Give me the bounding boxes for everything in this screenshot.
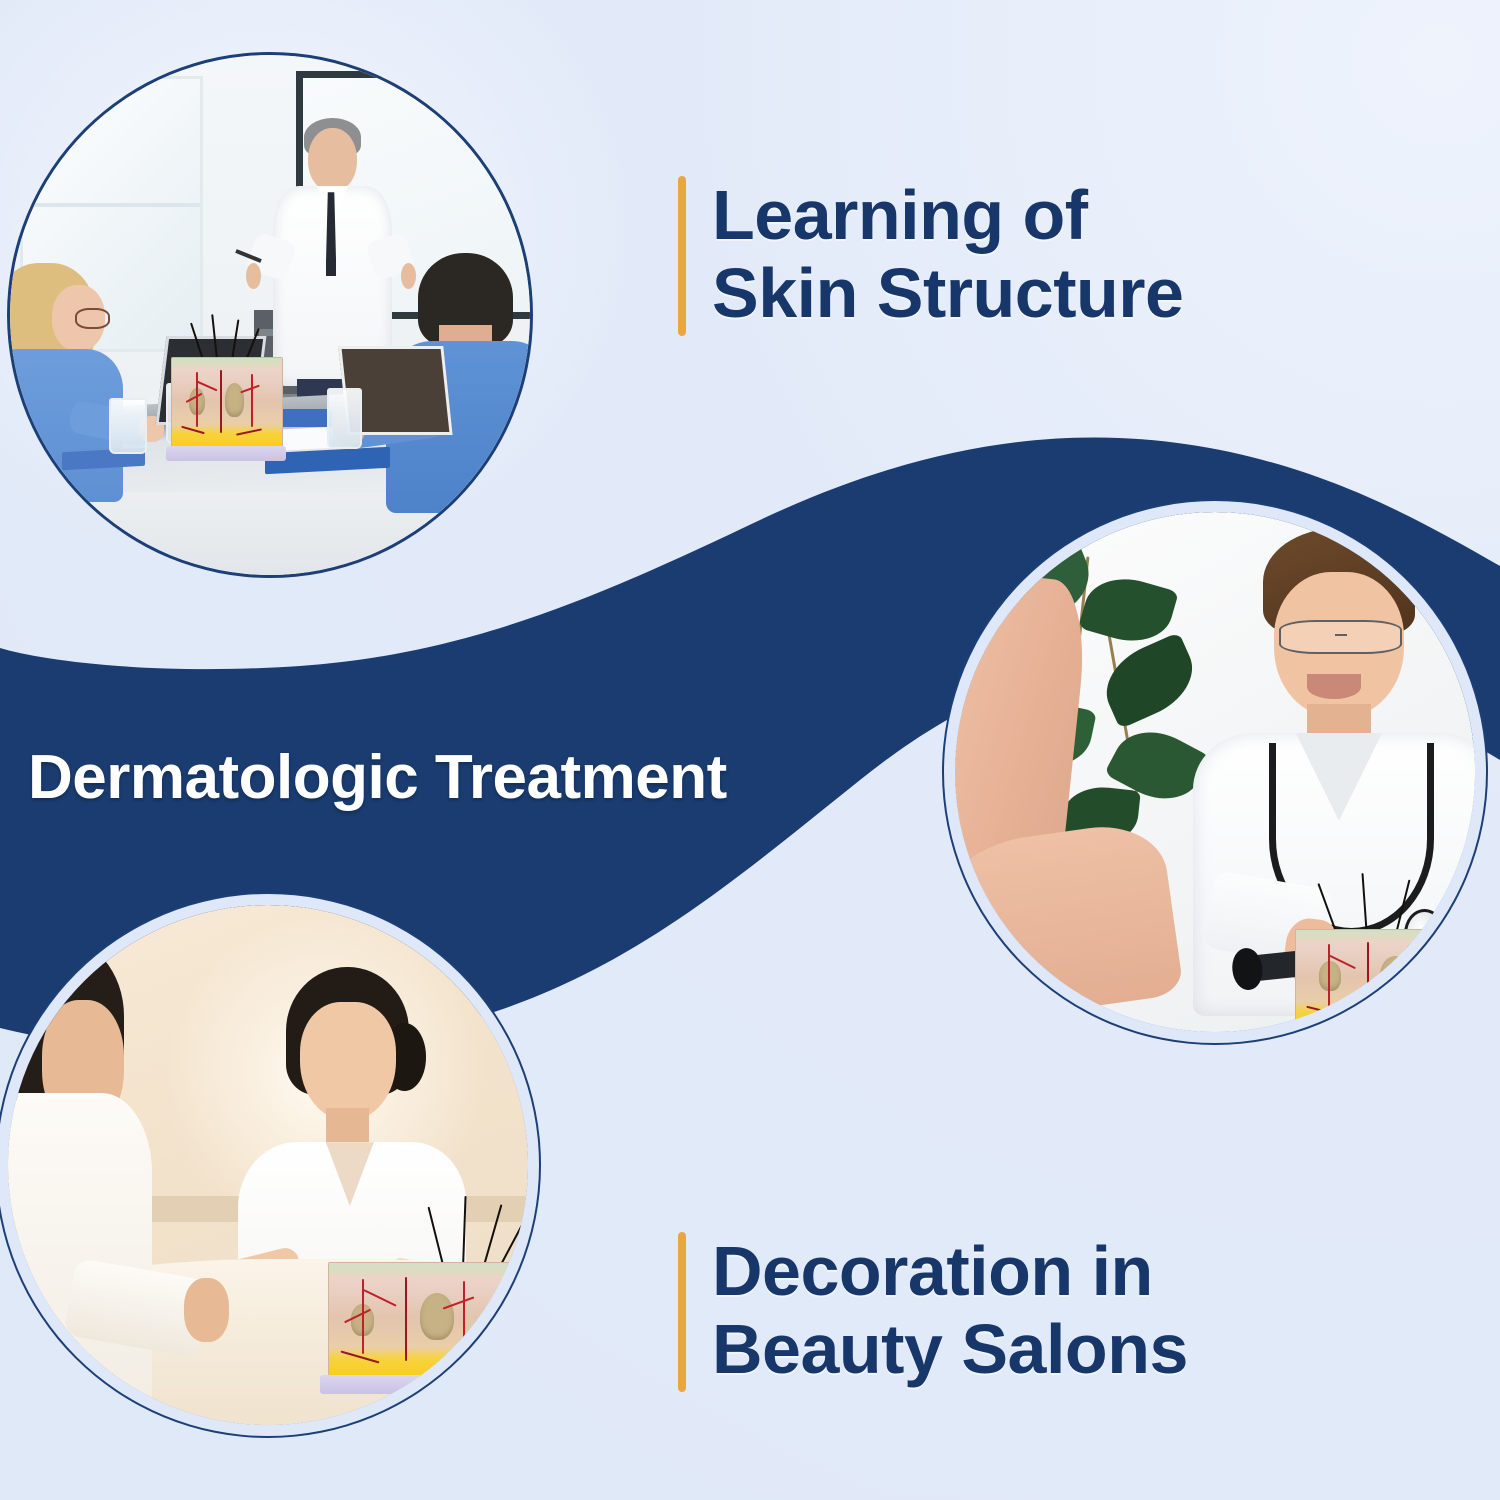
beauty-salon-photo bbox=[8, 905, 528, 1425]
infographic-canvas: Dermatologic Treatment bbox=[0, 0, 1500, 1500]
feature-heading-learning: Learning of Skin Structure bbox=[678, 176, 1183, 336]
skin-anatomy-model bbox=[320, 1248, 518, 1394]
patient-forearm bbox=[955, 819, 1185, 1027]
dermatologist-photo bbox=[955, 512, 1475, 1032]
feature-heading-decoration: Decoration in Beauty Salons bbox=[678, 1232, 1188, 1392]
feature-heading-decoration-text: Decoration in Beauty Salons bbox=[712, 1232, 1188, 1392]
accent-bar bbox=[678, 176, 686, 336]
feature-heading-learning-text: Learning of Skin Structure bbox=[712, 176, 1183, 336]
accent-bar bbox=[678, 1232, 686, 1392]
client-figure bbox=[8, 936, 174, 1425]
training-room-photo bbox=[10, 55, 530, 575]
skin-anatomy-model bbox=[166, 346, 286, 460]
band-title: Dermatologic Treatment bbox=[28, 742, 727, 813]
skin-anatomy-model bbox=[1288, 918, 1465, 1032]
